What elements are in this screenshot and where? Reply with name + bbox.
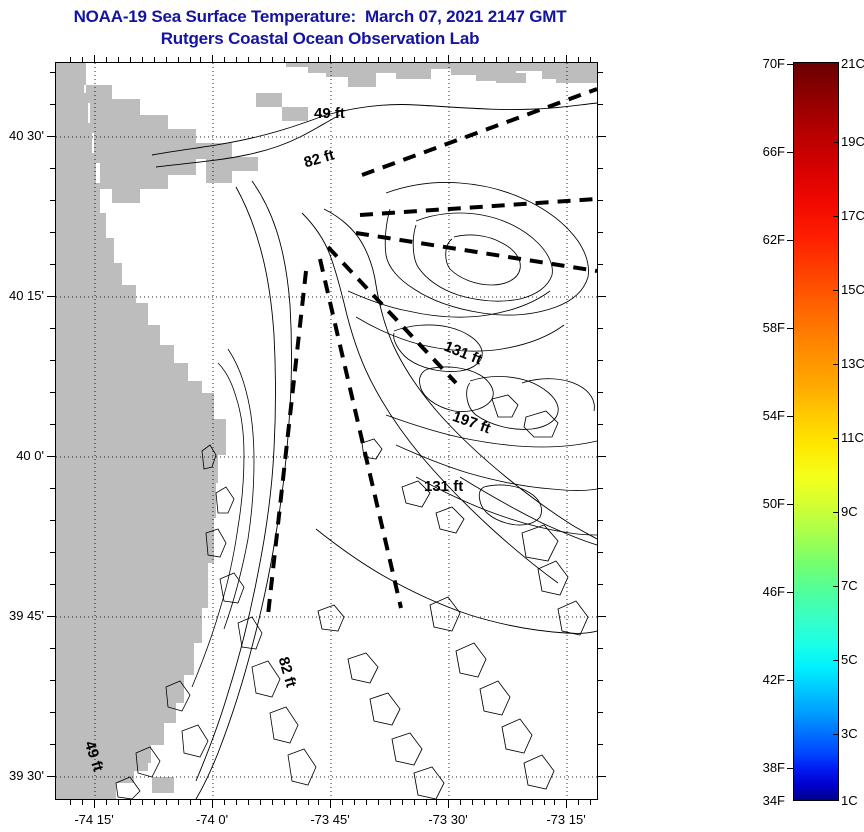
temperature-colorbar[interactable] bbox=[793, 62, 839, 801]
cb-label-c-0: 21C bbox=[841, 56, 864, 71]
cb-tick-c-3 bbox=[833, 734, 839, 735]
cb-tick-f-62 bbox=[787, 240, 793, 241]
sst-map-figure: NOAA-19 Sea Surface Temperature: March 0… bbox=[0, 0, 864, 832]
cb-label-c-7: 7C bbox=[841, 578, 864, 593]
y-tick-label-1: 40 15' bbox=[0, 288, 44, 303]
cb-tick-c-19 bbox=[833, 142, 839, 143]
depth-label-49ft-north: 49 ft bbox=[314, 105, 345, 122]
cb-label-f-0: 70F bbox=[742, 56, 785, 71]
cb-tick-f-46 bbox=[787, 592, 793, 593]
x-tick-label-3: -73 30' bbox=[398, 812, 498, 827]
cb-tick-f-42 bbox=[787, 680, 793, 681]
cb-label-f-6: 46F bbox=[742, 584, 785, 599]
cb-label-c-10: 1C bbox=[841, 793, 864, 808]
title-line-1: NOAA-19 Sea Surface Temperature: March 0… bbox=[0, 6, 640, 28]
cb-label-f-3: 58F bbox=[742, 320, 785, 335]
cb-tick-c-7 bbox=[833, 586, 839, 587]
cb-label-c-4: 13C bbox=[841, 356, 864, 371]
cb-tick-c-15 bbox=[833, 290, 839, 291]
cb-tick-c-17 bbox=[833, 216, 839, 217]
y-tick-label-0: 40 30' bbox=[0, 128, 44, 143]
cb-label-f-8: 38F bbox=[742, 760, 785, 775]
y-tick-label-2: 40 0' bbox=[0, 448, 44, 463]
cb-label-c-3: 15C bbox=[841, 282, 864, 297]
depth-label-131ft-lower: 131 ft bbox=[424, 478, 463, 495]
cb-label-c-6: 9C bbox=[841, 504, 864, 519]
cb-label-c-8: 5C bbox=[841, 652, 864, 667]
cb-tick-f-50 bbox=[787, 504, 793, 505]
cb-label-f-7: 42F bbox=[742, 672, 785, 687]
cb-tick-f-58 bbox=[787, 328, 793, 329]
cb-tick-c-9 bbox=[833, 512, 839, 513]
title-line-2: Rutgers Coastal Ocean Observation Lab bbox=[0, 28, 640, 50]
cb-tick-f-54 bbox=[787, 416, 793, 417]
x-tick-label-2: -73 45' bbox=[280, 812, 380, 827]
map-graphics bbox=[56, 63, 597, 799]
cb-label-f-4: 54F bbox=[742, 408, 785, 423]
y-tick-label-3: 39 45' bbox=[0, 608, 44, 623]
cb-label-c-5: 11C bbox=[841, 430, 864, 445]
x-tick-label-1: -74 0' bbox=[162, 812, 262, 827]
figure-title: NOAA-19 Sea Surface Temperature: March 0… bbox=[0, 6, 640, 50]
cb-label-c-9: 3C bbox=[841, 726, 864, 741]
x-tick-label-4: -73 15' bbox=[516, 812, 616, 827]
cb-tick-f-70 bbox=[787, 64, 793, 65]
cb-label-f-9: 34F bbox=[742, 793, 785, 808]
cb-tick-c-13 bbox=[833, 364, 839, 365]
y-tick-label-4: 39 30' bbox=[0, 768, 44, 783]
cb-label-f-1: 66F bbox=[742, 144, 785, 159]
cb-tick-c-11 bbox=[833, 438, 839, 439]
cb-label-f-5: 50F bbox=[742, 496, 785, 511]
cb-tick-f-38 bbox=[787, 768, 793, 769]
cb-tick-f-66 bbox=[787, 152, 793, 153]
cb-label-f-2: 62F bbox=[742, 232, 785, 247]
cb-label-c-1: 19C bbox=[841, 134, 864, 149]
x-tick-label-0: -74 15' bbox=[44, 812, 144, 827]
colorbar-gradient bbox=[794, 63, 838, 800]
cb-tick-c-5 bbox=[833, 660, 839, 661]
map-plot-area[interactable]: 49 ft 82 ft 131 ft 197 ft 131 ft 82 ft 4… bbox=[55, 62, 598, 800]
cb-label-c-2: 17C bbox=[841, 208, 864, 223]
